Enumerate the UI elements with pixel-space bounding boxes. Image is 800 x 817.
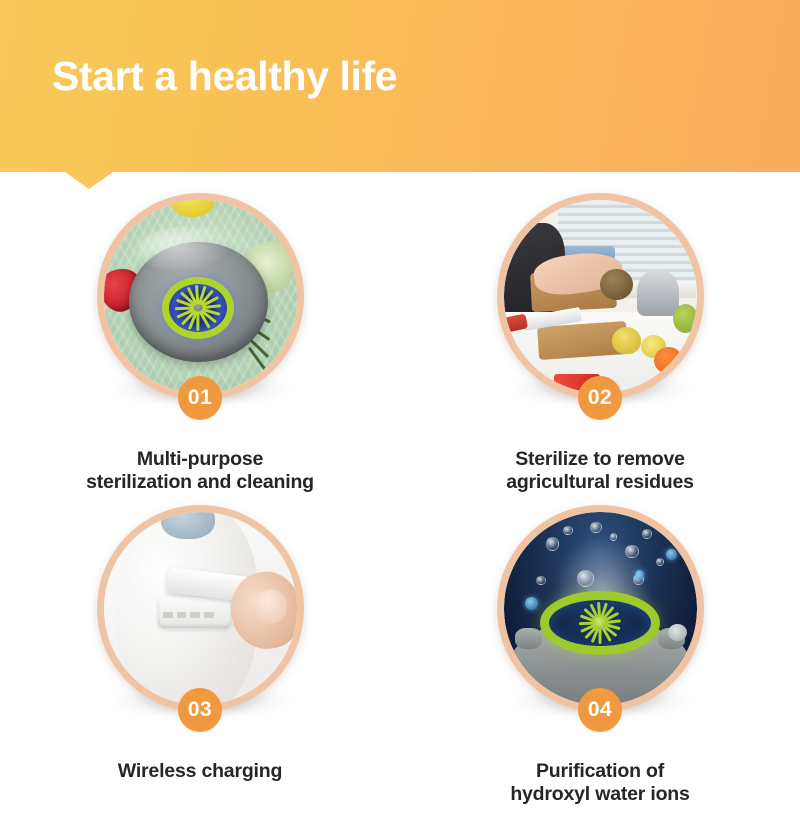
feature-illustration-04 <box>504 512 697 705</box>
lemon-half-icon <box>612 327 641 354</box>
water-highlight <box>138 227 231 273</box>
fan-rotor-icon <box>540 591 660 655</box>
feature-badge-04: 04 <box>578 688 622 732</box>
feature-image-circle-02 <box>497 193 704 400</box>
banner-notch-triangle <box>65 172 113 189</box>
feature-caption-04: Purification of hydroxyl water ions <box>510 760 689 806</box>
germ-icon <box>525 597 539 611</box>
juicer-icon <box>637 269 679 315</box>
feature-image-wrap-02: 02 <box>497 193 704 400</box>
feature-caption-02: Sterilize to remove agricultural residue… <box>506 448 694 494</box>
feature-illustration-01 <box>104 200 297 393</box>
kitchen-scene <box>504 200 697 393</box>
feature-badge-03: 03 <box>178 688 222 732</box>
feature-grid: 01 Multi-purpose sterilization and clean… <box>0 193 800 817</box>
underwater-scene <box>504 512 697 705</box>
kiwi-icon <box>600 269 633 300</box>
fan-hub-icon <box>194 305 203 312</box>
feature-image-circle-04 <box>497 505 704 712</box>
fingernail-icon <box>254 589 287 624</box>
feature-caption-01: Multi-purpose sterilization and cleaning <box>86 448 314 494</box>
feature-illustration-03 <box>104 512 297 705</box>
feature-image-wrap-01: 01 <box>97 193 304 400</box>
header-banner: Start a healthy life <box>0 0 800 172</box>
feature-card-01[interactable]: 01 Multi-purpose sterilization and clean… <box>0 193 400 505</box>
feature-image-wrap-04: 04 <box>497 505 704 712</box>
feature-image-wrap-03: 03 <box>97 505 304 712</box>
feature-card-03[interactable]: 03 Wireless charging <box>0 505 400 817</box>
feature-card-04[interactable]: 04 Purification of hydroxyl water ions <box>400 505 800 817</box>
page-title: Start a healthy life <box>52 53 397 100</box>
feature-image-circle-03 <box>97 505 304 712</box>
germ-icon <box>635 570 645 580</box>
feature-card-02[interactable]: 02 Sterilize to remove agricultural resi… <box>400 193 800 505</box>
feature-badge-01: 01 <box>178 376 222 420</box>
germ-icon <box>666 549 678 561</box>
feature-image-circle-01 <box>97 193 304 400</box>
feature-illustration-02 <box>504 200 697 393</box>
feature-caption-03: Wireless charging <box>118 760 282 783</box>
fan-hub-icon <box>593 617 607 629</box>
green-fruit-icon <box>673 304 696 333</box>
feature-badge-02: 02 <box>578 376 622 420</box>
charging-scene <box>104 512 297 705</box>
indicator-light-icon <box>668 624 687 641</box>
fan-rotor-icon <box>162 277 234 339</box>
orange-fruit-icon <box>654 347 683 374</box>
water-basin-scene <box>104 200 297 393</box>
